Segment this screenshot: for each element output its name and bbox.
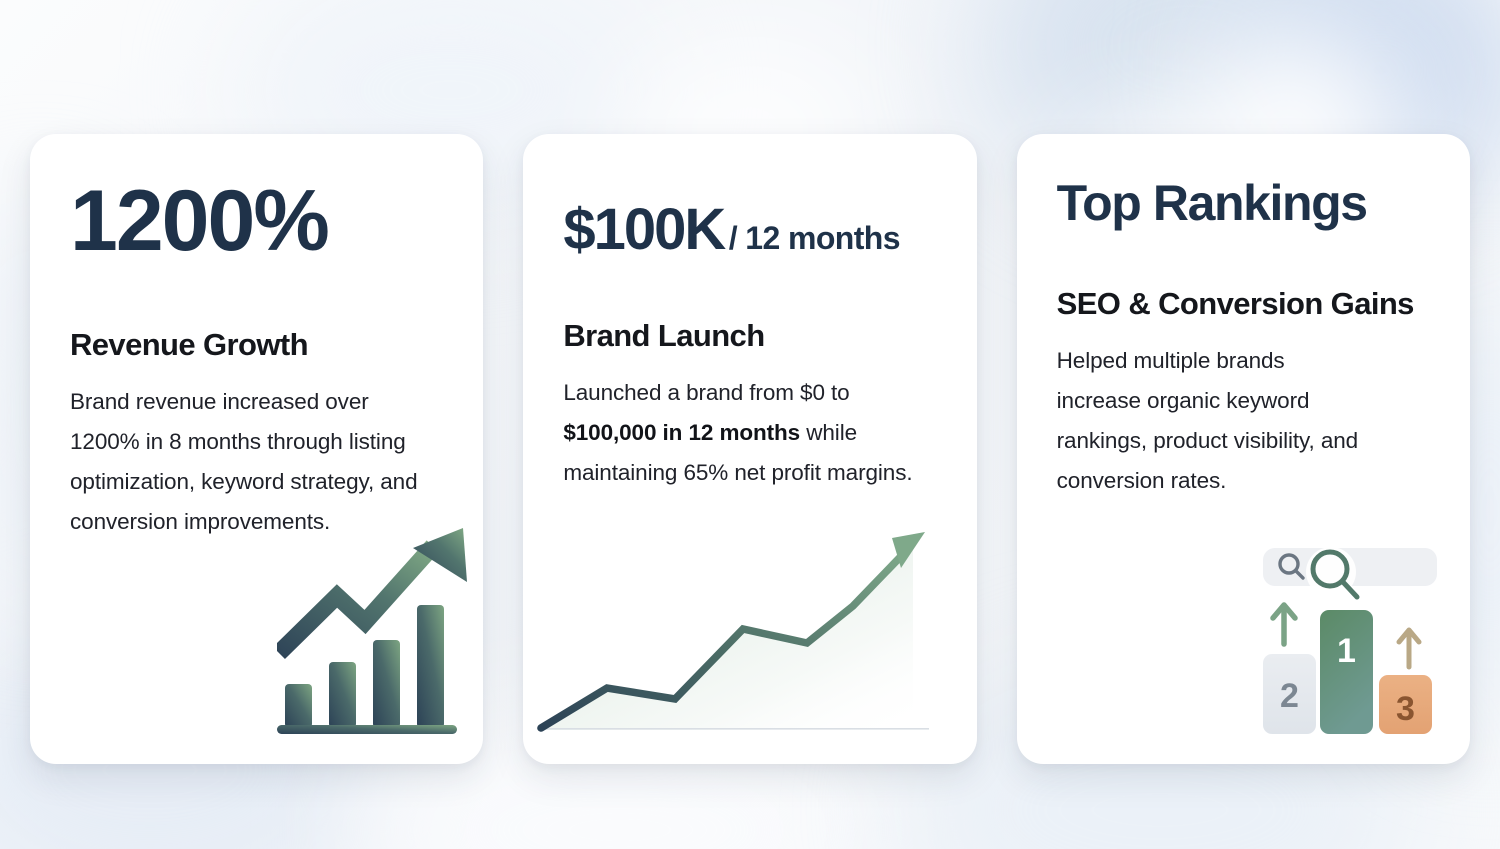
search-icon-small: [1280, 555, 1303, 578]
podium-label-3: 3: [1396, 690, 1415, 728]
card-heading: Brand Launch: [563, 317, 936, 355]
card-body-text: Helped multiple brands increase organic …: [1057, 341, 1362, 501]
stat-value-suffix: / 12 months: [729, 220, 900, 256]
body-text-before: Launched a brand from $0 to: [563, 380, 849, 405]
card-heading: Revenue Growth: [70, 326, 443, 364]
stat-row: $100K / 12 months: [563, 200, 936, 259]
search-ranking-podium-icon: 2 1 3: [1261, 544, 1456, 744]
stat-value: Top Rankings: [1057, 178, 1430, 229]
stat-card-seo-conversion[interactable]: Top Rankings SEO & Conversion Gains Help…: [1017, 134, 1470, 764]
card-body-text: Brand revenue increased over 1200% in 8 …: [70, 382, 443, 542]
arrow-up-icon: [1399, 630, 1419, 667]
line-chart-upward-arrow-icon: [535, 516, 935, 746]
stat-value: 1200%: [70, 178, 443, 266]
podium-label-1: 1: [1337, 632, 1356, 670]
stat-value: $100K: [563, 197, 724, 262]
body-text-bold: $100,000 in 12 months: [563, 420, 800, 445]
stat-card-brand-launch[interactable]: $100K / 12 months Brand Launch Launched …: [523, 134, 976, 764]
card-heading: SEO & Conversion Gains: [1057, 285, 1430, 323]
arrow-up-icon: [1273, 605, 1295, 644]
card-body-text: Launched a brand from $0 to $100,000 in …: [563, 373, 936, 493]
bar-chart-growth-arrow-icon: [277, 526, 477, 736]
stat-card-revenue-growth[interactable]: 1200% Revenue Growth Brand revenue incre…: [30, 134, 483, 764]
stats-card-grid: 1200% Revenue Growth Brand revenue incre…: [30, 134, 1470, 764]
search-icon-large: [1313, 552, 1357, 597]
podium-label-2: 2: [1280, 677, 1299, 715]
